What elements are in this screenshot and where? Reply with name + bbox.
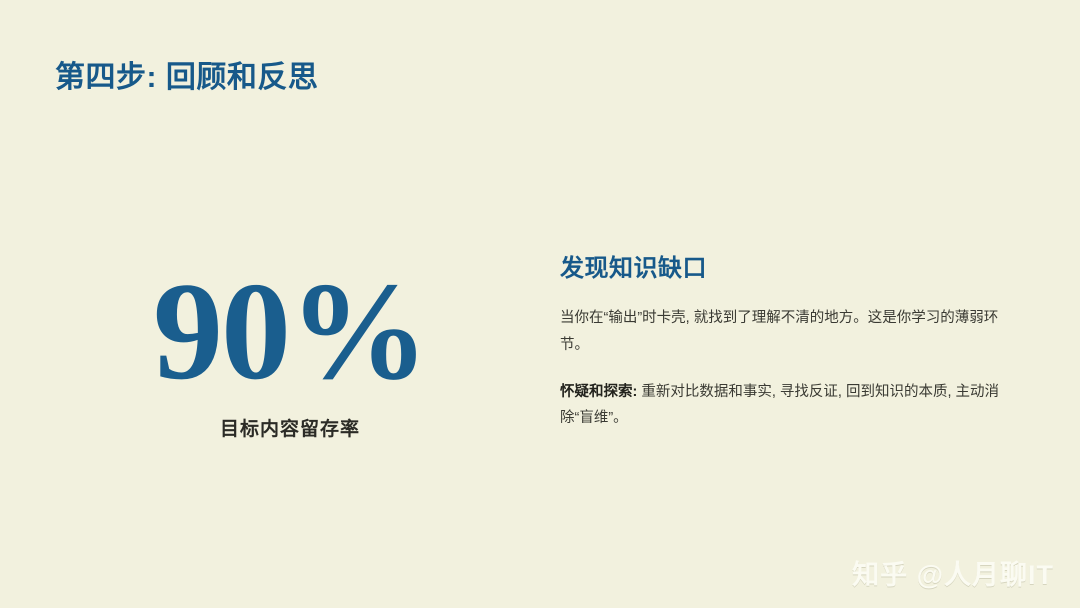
- watermark: 知乎 @人月聊IT: [852, 553, 1054, 592]
- detail-paragraph-secondary: 怀疑和探索: 重新对比数据和事实, 寻找反证, 回到知识的本质, 主动消除“盲维…: [560, 379, 1022, 433]
- detail-paragraph-lead: 怀疑和探索:: [560, 384, 637, 400]
- detail-heading: 发现知识缺口: [560, 248, 1022, 283]
- statistic-value: 90%: [60, 262, 520, 402]
- detail-paragraph-primary: 当你在“输出”时卡壳, 就找到了理解不清的地方。这是你学习的薄弱环节。: [560, 305, 1022, 359]
- statistic-block: 90% 目标内容留存率: [60, 262, 520, 441]
- page-title: 第四步: 回顾和反思: [55, 52, 318, 96]
- detail-block: 发现知识缺口 当你在“输出”时卡壳, 就找到了理解不清的地方。这是你学习的薄弱环…: [560, 248, 1022, 432]
- slide-canvas: 第四步: 回顾和反思 90% 目标内容留存率 发现知识缺口 当你在“输出”时卡壳…: [0, 0, 1080, 608]
- statistic-caption: 目标内容留存率: [60, 414, 520, 441]
